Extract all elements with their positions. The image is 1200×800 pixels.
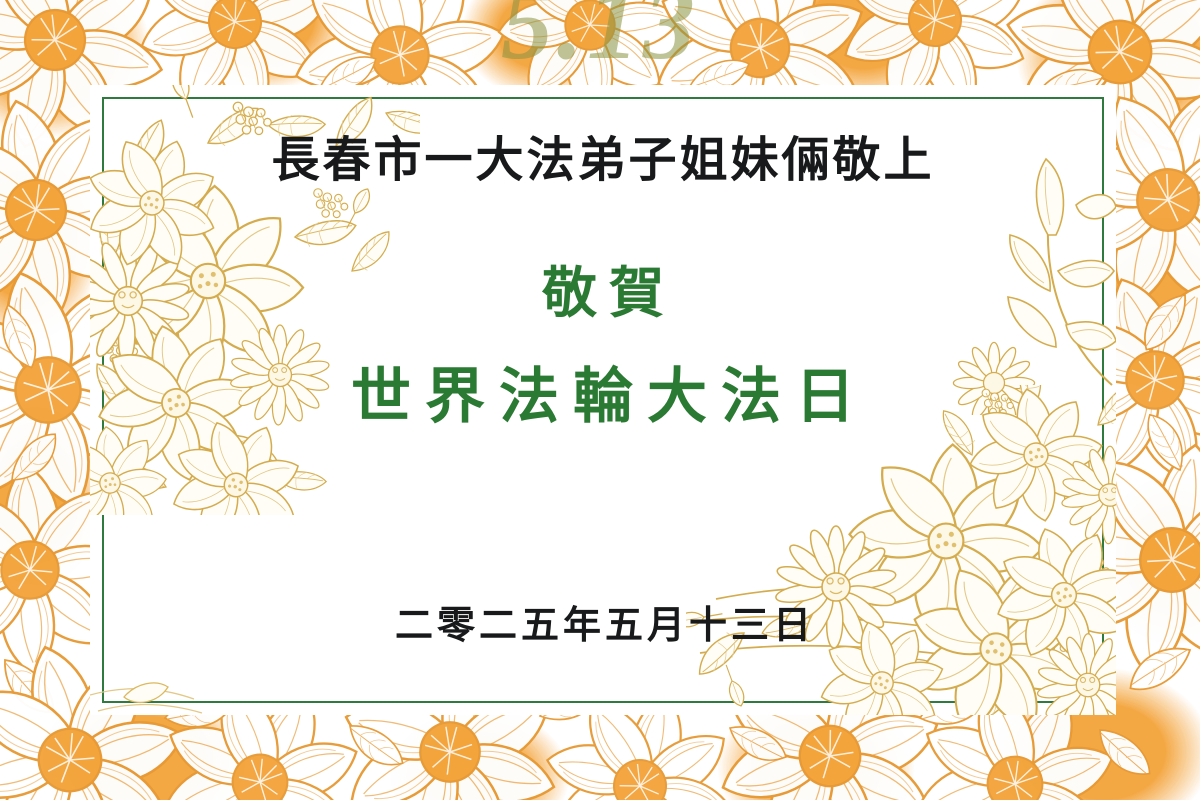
- header-attribution-text: 長春市一大法弟子姐妹倆敬上: [90, 135, 1116, 188]
- salutation-text: 敬賀: [90, 248, 1116, 328]
- greeting-card: 5.13: [0, 0, 1200, 800]
- main-title-text: 世界法輪大法日: [90, 348, 1116, 435]
- card-text-content: 長春市一大法弟子姐妹倆敬上 敬賀 世界法輪大法日 二零二五年五月十三日: [90, 85, 1116, 715]
- date-text: 二零二五年五月十三日: [90, 594, 1116, 649]
- inner-card-panel: 長春市一大法弟子姐妹倆敬上 敬賀 世界法輪大法日 二零二五年五月十三日: [90, 85, 1116, 715]
